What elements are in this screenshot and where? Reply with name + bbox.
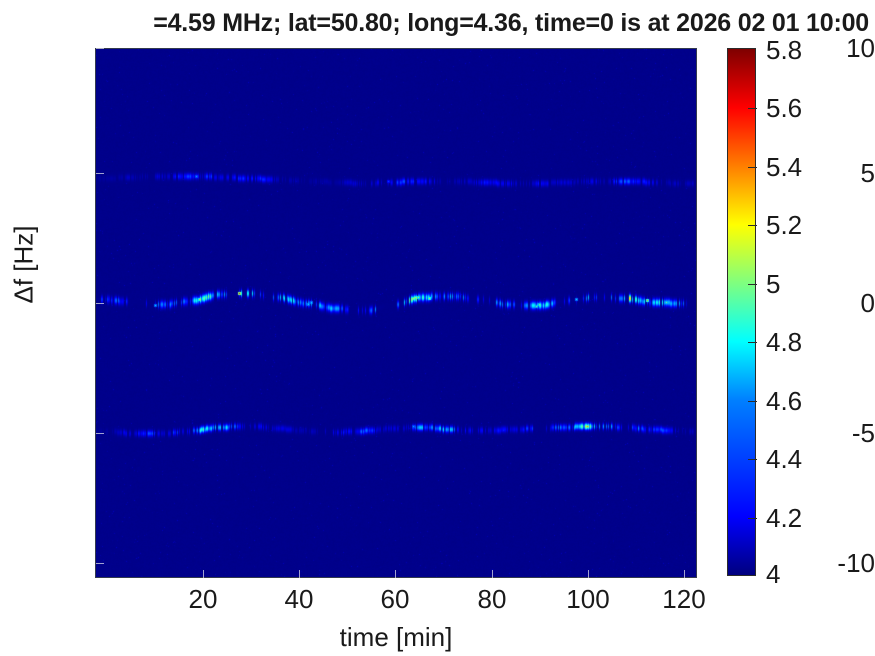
cbtick-mark-5 [748, 284, 757, 285]
xtick-mark-80 [492, 570, 493, 578]
cbtick-label-5-4: 5.4 [766, 154, 866, 180]
xtick-label-120: 120 [624, 586, 744, 612]
xtick-mark-40 [299, 570, 300, 578]
ytick-mark-neg10 [96, 563, 104, 564]
ytick-mark-5 [96, 173, 104, 174]
cbtick-label-4: 4 [766, 561, 866, 587]
colorbar [727, 48, 756, 576]
ytick-mark-10 [96, 48, 104, 49]
cbtick-mark-5-4 [748, 167, 757, 168]
cbtick-label-5: 5 [766, 271, 866, 297]
y-axis-label: Δf [Hz] [9, 65, 40, 465]
cbtick-label-5-2: 5.2 [766, 212, 866, 238]
cbtick-label-4-2: 4.2 [766, 505, 866, 531]
xtick-mark-60 [395, 570, 396, 578]
cbtick-mark-5-6 [748, 108, 757, 109]
cbtick-mark-4-4 [748, 459, 757, 460]
cbtick-mark-5-2 [748, 225, 757, 226]
chart-title: =4.59 MHz; lat=50.80; long=4.36, time=0 … [0, 6, 875, 40]
ytick-mark-0 [96, 303, 104, 304]
spectrogram-canvas [95, 48, 697, 578]
spectrogram-plot-area [95, 48, 697, 578]
ytick-mark-neg5 [96, 433, 104, 434]
colorbar-gradient [727, 48, 756, 576]
cbtick-label-5-6: 5.6 [766, 95, 866, 121]
cbtick-label-5-8: 5.8 [766, 37, 866, 63]
cbtick-mark-4-2 [748, 518, 757, 519]
ytick-label-neg5: -5 [791, 420, 875, 446]
xtick-mark-100 [588, 570, 589, 578]
xtick-mark-120 [684, 570, 685, 578]
cbtick-mark-4-6 [748, 401, 757, 402]
cbtick-label-4-4: 4.4 [766, 446, 866, 472]
cbtick-label-4-6: 4.6 [766, 388, 866, 414]
cbtick-mark-4-8 [748, 342, 757, 343]
x-axis-label: time [min] [95, 622, 697, 653]
cbtick-label-4-8: 4.8 [766, 329, 866, 355]
xtick-mark-20 [203, 570, 204, 578]
